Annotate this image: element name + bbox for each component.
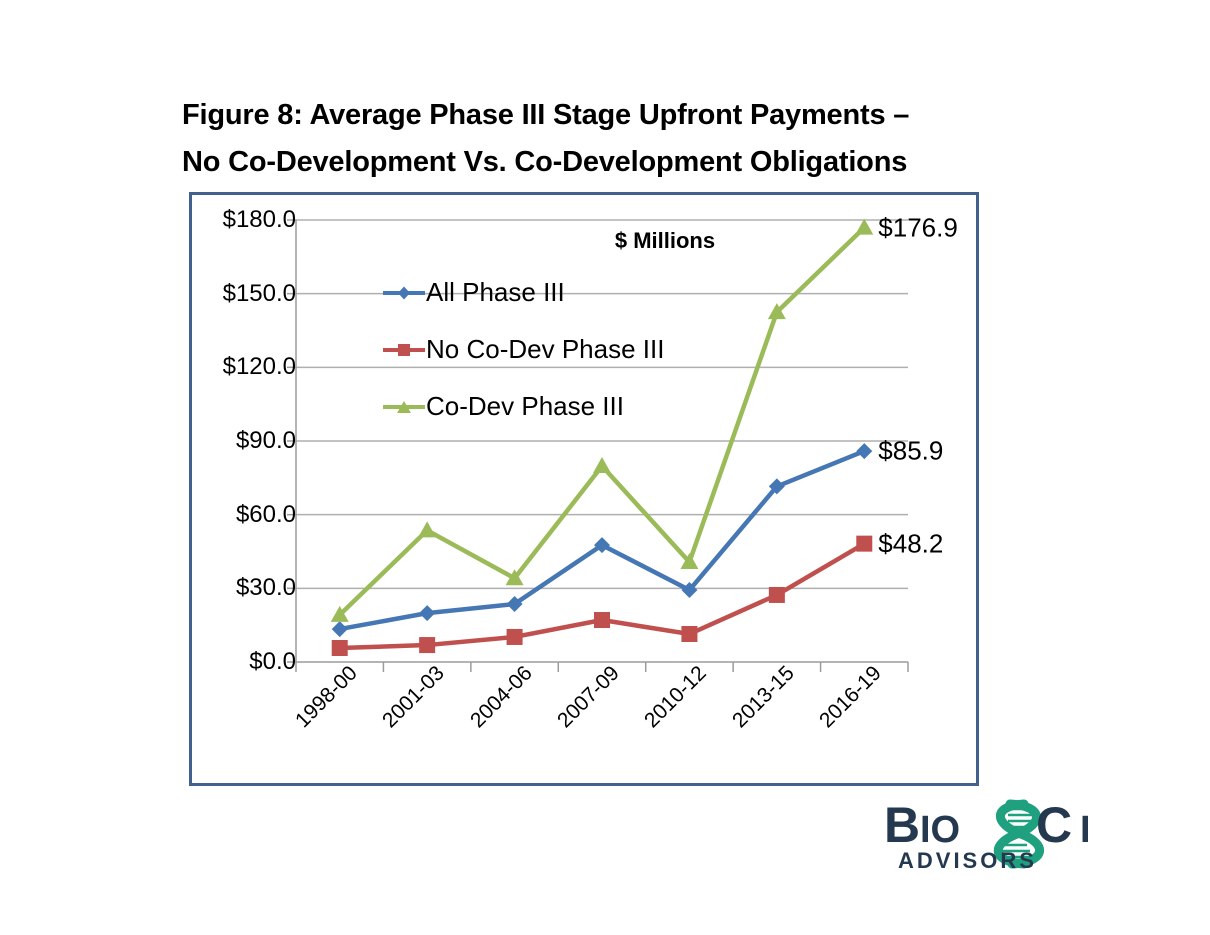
legend-item-co-dev-phase-iii[interactable]: Co-Dev Phase III	[383, 378, 683, 435]
biosci-advisors-logo: B IO C I ADVISORS	[884, 790, 1154, 880]
x-axis-tick-label: 2004-06	[466, 661, 537, 732]
legend-label-no-co-dev-phase-iii: No Co-Dev Phase III	[426, 334, 664, 365]
svg-text:IO: IO	[920, 809, 960, 851]
legend-label-co-dev-phase-iii: Co-Dev Phase III	[426, 391, 624, 422]
data-label-diamond: $85.9	[878, 436, 943, 467]
x-axis-tick-label: 1998-00	[291, 661, 362, 732]
svg-text:B: B	[884, 797, 919, 853]
legend-marker-diamond-icon	[383, 284, 425, 302]
svg-text:C: C	[1036, 797, 1071, 853]
x-axis-tick-label: 2001-03	[378, 661, 449, 732]
legend-marker-square-icon	[383, 341, 425, 359]
x-axis-tick-label: 2016-19	[815, 661, 886, 732]
x-axis-tick-label: 2013-15	[728, 661, 799, 732]
svg-text:I: I	[1080, 809, 1091, 851]
x-axis-tick-label: 2007-09	[553, 661, 624, 732]
legend-label-all-phase-iii: All Phase III	[426, 277, 565, 308]
chart-legend: All Phase III No Co-Dev Phase III Co-Dev…	[383, 264, 683, 435]
legend-item-no-co-dev-phase-iii[interactable]: No Co-Dev Phase III	[383, 321, 683, 378]
data-label-square: $48.2	[878, 528, 943, 559]
legend-item-all-phase-iii[interactable]: All Phase III	[383, 264, 683, 321]
chart-units-label: $ Millions	[565, 228, 765, 254]
data-label-triangle: $176.9	[878, 212, 958, 243]
svg-text:ADVISORS: ADVISORS	[898, 848, 1037, 873]
x-axis-tick-label: 2010-12	[640, 661, 711, 732]
legend-marker-triangle-icon	[383, 398, 425, 416]
